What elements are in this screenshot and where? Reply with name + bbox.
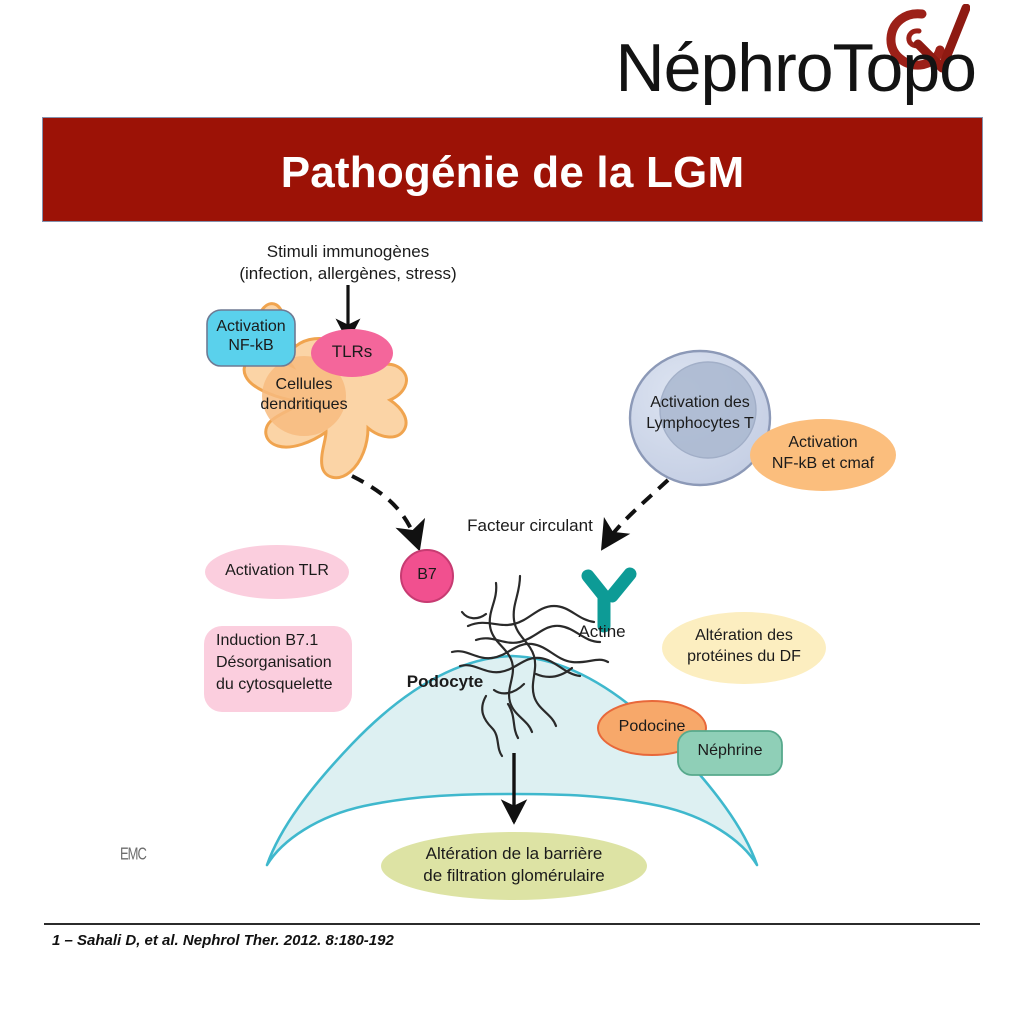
lymphocyte-nucleus: [660, 362, 756, 458]
alteration-df-ellipse: [662, 612, 826, 684]
nfkb-cmaf-ellipse: [750, 419, 896, 491]
outcome-ellipse: [381, 832, 647, 900]
nfkb-dendritic-box: [207, 310, 295, 366]
arrow-dendritic-to-b7: [352, 476, 418, 546]
footer-divider: [44, 923, 980, 925]
tlrs-ellipse: [311, 329, 393, 377]
slide-canvas: NéphroTopo Pathogénie de la LGM: [0, 0, 1024, 1024]
receptor-y-icon: [588, 574, 630, 626]
diagram-graphics: [0, 228, 1024, 918]
induction-b7-box: [204, 626, 352, 712]
nephrine-box: [678, 731, 782, 775]
emc-watermark: EMC: [120, 843, 146, 863]
pathogenesis-diagram: Stimuli immunogènes (infection, allergèn…: [0, 228, 1024, 918]
b7-circle: [401, 550, 453, 602]
arrow-lymphocyte-to-receptor: [604, 480, 668, 546]
logo-wordmark: NéphroTopo: [616, 34, 976, 102]
page-title: Pathogénie de la LGM: [43, 148, 982, 198]
brand-logo: NéphroTopo: [556, 6, 976, 110]
footer-citation: 1 – Sahali D, et al. Nephrol Ther. 2012.…: [52, 932, 394, 949]
activation-tlr-ellipse: [205, 545, 349, 599]
title-banner: Pathogénie de la LGM: [42, 117, 983, 222]
